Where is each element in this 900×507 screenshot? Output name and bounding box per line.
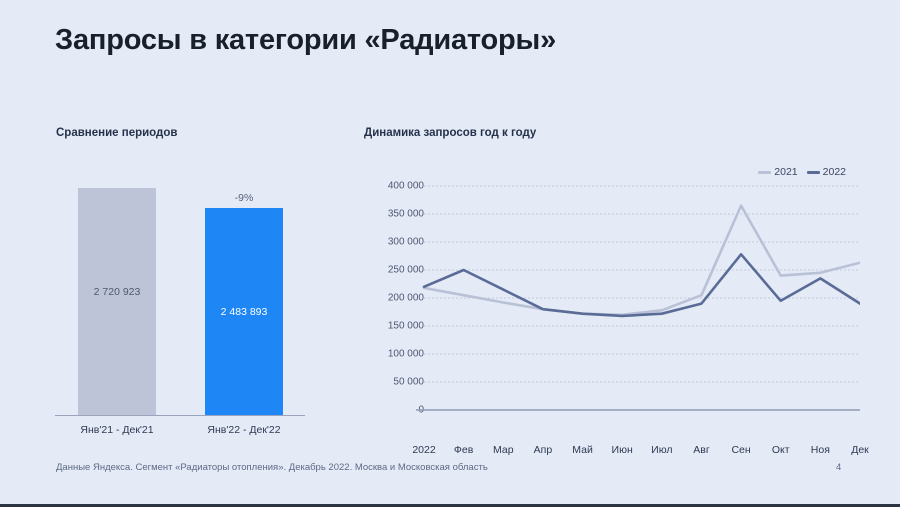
bar-chart-heading: Сравнение периодов [56, 127, 177, 139]
legend-swatch-2022-icon [807, 171, 820, 174]
yoy-dynamics-line-chart: 2021 2022 050 000100 000150 000200 00025… [360, 160, 860, 440]
x-tick-label: Июн [600, 444, 644, 456]
x-tick-label: Май [561, 444, 605, 456]
slide-canvas: Запросы в категории «Радиаторы» Сравнени… [0, 0, 900, 507]
line-chart-heading: Динамика запросов год к году [364, 127, 536, 139]
footer-source-note: Данные Яндекса. Сегмент «Радиаторы отопл… [56, 462, 488, 473]
page-title: Запросы в категории «Радиаторы» [55, 24, 556, 57]
bar-value-label-2022: 2 483 893 [205, 306, 283, 318]
x-tick-label: Дек [838, 444, 882, 456]
bar-plot-area: 2 720 923 2 483 893 -9% [55, 180, 305, 415]
x-tick-label: Окт [759, 444, 803, 456]
period-comparison-bar-chart: 2 720 923 2 483 893 -9% Янв'21 - Дек'21 … [55, 180, 305, 440]
x-tick-label: Авг [679, 444, 723, 456]
bar-axis-line [55, 415, 305, 416]
series-line-2022[interactable] [424, 254, 860, 316]
legend-label-2022: 2022 [823, 166, 846, 178]
x-tick-label: Сен [719, 444, 763, 456]
line-plot-area: 050 000100 000150 000200 000250 000300 0… [360, 180, 860, 420]
x-tick-label: Ноя [798, 444, 842, 456]
bar-delta-badge: -9% [205, 192, 283, 204]
x-tick-label: Июл [640, 444, 684, 456]
legend-label-2021: 2021 [774, 166, 797, 178]
page-number: 4 [836, 462, 841, 473]
line-chart-svg [360, 180, 860, 420]
x-tick-label: Мар [481, 444, 525, 456]
bar-category-label-2021: Янв'21 - Дек'21 [57, 424, 177, 436]
series-lines [424, 206, 860, 316]
bar-category-label-2022: Янв'22 - Дек'22 [184, 424, 304, 436]
legend-item-2021[interactable]: 2021 [758, 166, 797, 178]
bar-value-label-2021: 2 720 923 [78, 286, 156, 298]
legend-item-2022[interactable]: 2022 [807, 166, 846, 178]
legend-swatch-2021-icon [758, 171, 771, 174]
x-tick-label: Фев [442, 444, 486, 456]
x-tick-label: Апр [521, 444, 565, 456]
chart-legend: 2021 2022 [758, 166, 846, 178]
bar-rect-2021[interactable] [78, 188, 156, 415]
x-tick-label: 2022 [402, 444, 446, 456]
